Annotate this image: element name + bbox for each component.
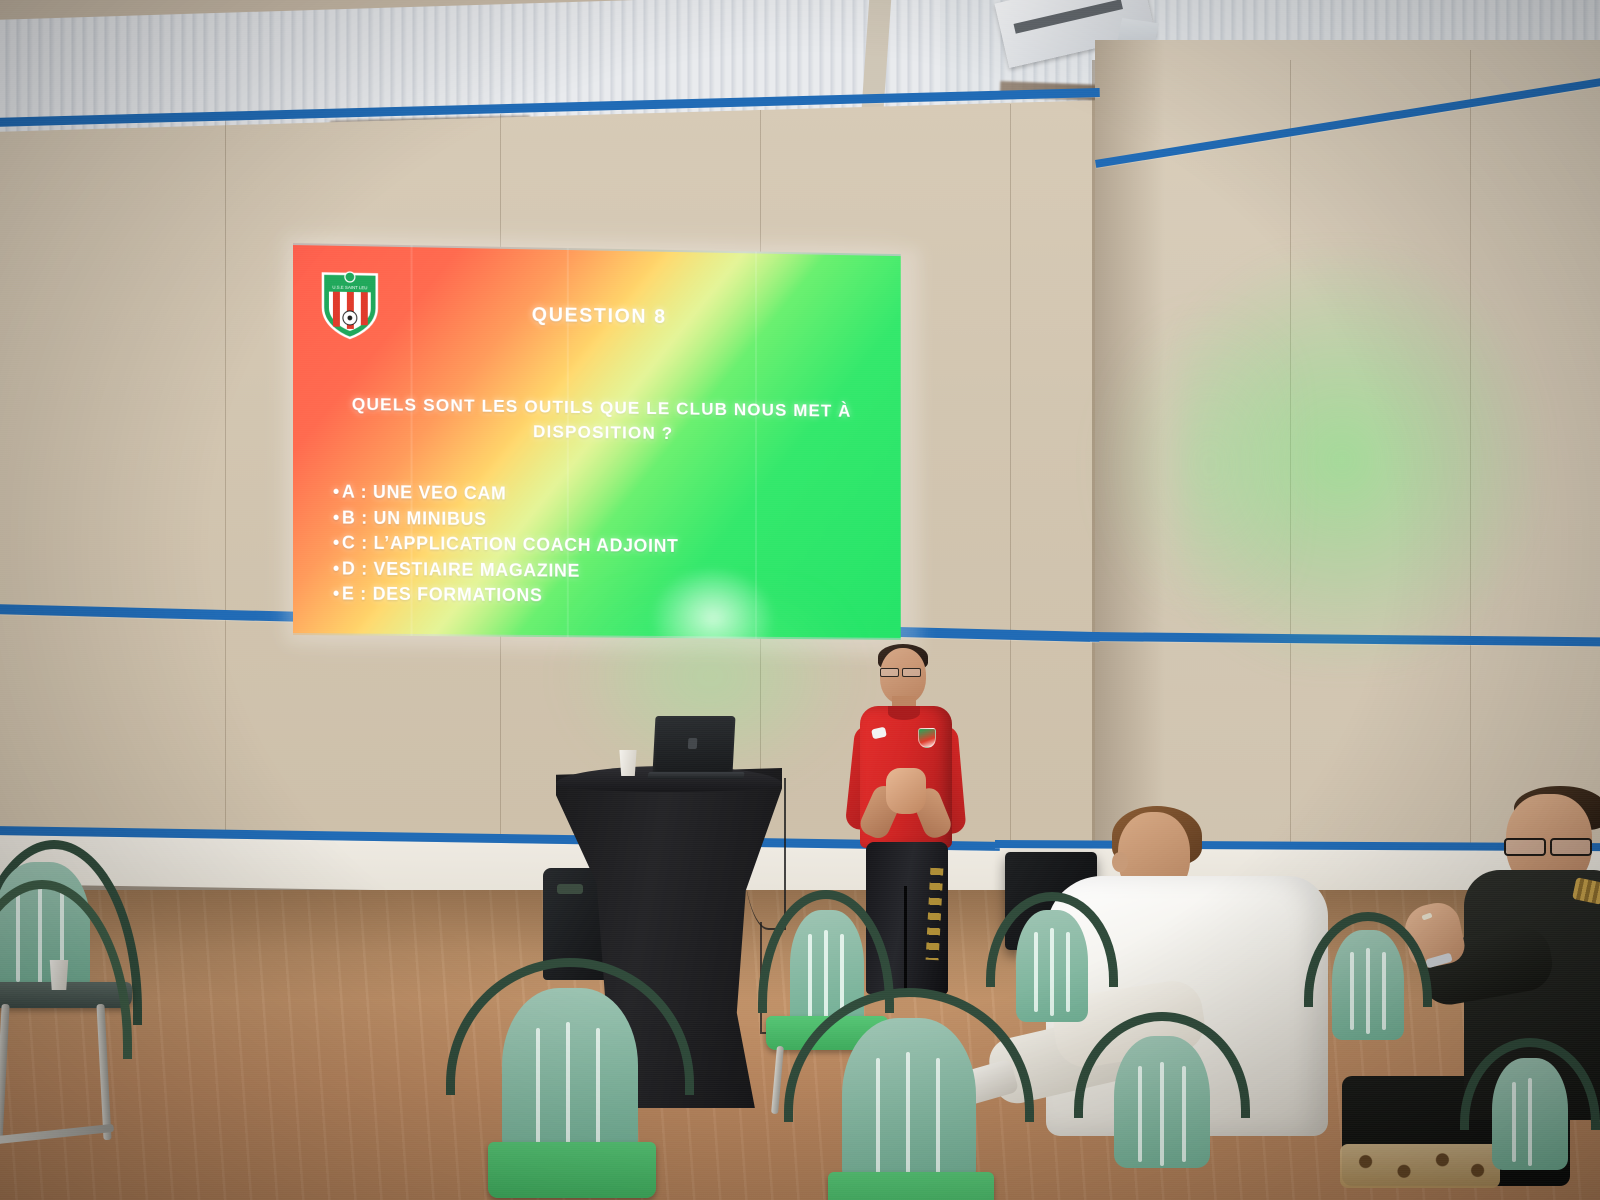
- chair[interactable]: [1460, 1038, 1600, 1200]
- audience-white-ear: [1112, 852, 1128, 872]
- chair-backrest: [1114, 1036, 1210, 1168]
- projected-slide: U.S.E SAINT LEU QUESTION 8 QUELS SONT LE…: [293, 243, 901, 640]
- chair-slat: [1528, 1078, 1532, 1166]
- glasses-icon: [880, 668, 924, 675]
- chair[interactable]: [0, 880, 132, 1200]
- chair-slat: [1138, 1066, 1142, 1162]
- laptop-logo-icon: [688, 738, 698, 749]
- presenter-shirt-collar: [888, 706, 920, 720]
- chair-slat: [1066, 932, 1070, 1012]
- projector-light-spill-secondary: [1090, 300, 1290, 630]
- bag-clip: [557, 884, 583, 894]
- chair-slat: [1382, 952, 1386, 1030]
- chair-slat: [566, 1022, 570, 1152]
- disposable-cup: [618, 750, 638, 776]
- photo-scene: U.S.E SAINT LEU QUESTION 8 QUELS SONT LE…: [0, 0, 1600, 1200]
- chair-seat: [828, 1172, 994, 1200]
- glasses-icon: [1504, 838, 1592, 852]
- chair-backrest: [1332, 930, 1404, 1040]
- chair-back-frame: [0, 880, 132, 1059]
- chair-slat: [906, 1052, 910, 1182]
- chair-backrest: [1492, 1058, 1568, 1170]
- presenter-club-badge: [918, 728, 936, 748]
- chair[interactable]: [784, 988, 1034, 1200]
- laptop-base: [647, 772, 744, 779]
- presenter-trouser-seam: [904, 886, 907, 994]
- chair-slat: [1366, 948, 1370, 1034]
- chair-slat: [876, 1058, 880, 1176]
- slide-surface: U.S.E SAINT LEU QUESTION 8 QUELS SONT LE…: [293, 243, 901, 640]
- chair[interactable]: [446, 958, 694, 1200]
- chair[interactable]: [1304, 912, 1432, 1082]
- wall-panel-seam: [225, 120, 226, 890]
- chair-slat: [1512, 1082, 1516, 1162]
- wall-panel-seam: [1010, 104, 1011, 884]
- chair-slat: [1350, 952, 1354, 1030]
- chair[interactable]: [1074, 1012, 1250, 1200]
- chair-slat: [536, 1028, 540, 1146]
- chair-slat: [1182, 1066, 1186, 1162]
- chair-slat: [1050, 928, 1054, 1016]
- chair-slat: [936, 1058, 940, 1176]
- chair-slat: [1160, 1062, 1164, 1166]
- laptop[interactable]: [652, 716, 735, 774]
- chair-backrest: [842, 1018, 976, 1186]
- chair-backrest: [502, 988, 638, 1156]
- chair-slat: [1034, 932, 1038, 1012]
- presenter-hands: [886, 768, 926, 814]
- chair-slat: [596, 1028, 600, 1146]
- slide-light-sheen: [293, 243, 901, 640]
- chair-seat: [488, 1142, 656, 1198]
- chair-leg: [771, 1046, 784, 1114]
